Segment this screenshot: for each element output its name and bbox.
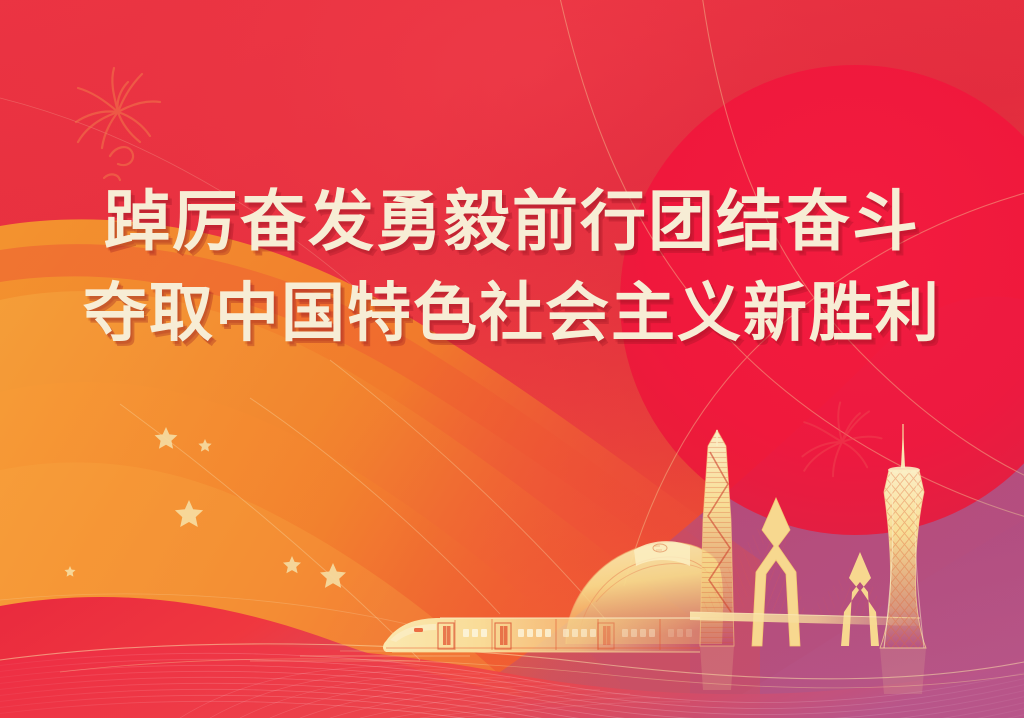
high-speed-train-icon <box>250 618 700 661</box>
skyline-illustration <box>0 0 1024 718</box>
canton-tower-icon <box>880 424 926 694</box>
poster-canvas: 踔厉奋发勇毅前行团结奋斗 夺取中国特色社会主义新胜利 <box>0 0 1024 718</box>
supertall-tower-icon <box>700 430 734 690</box>
